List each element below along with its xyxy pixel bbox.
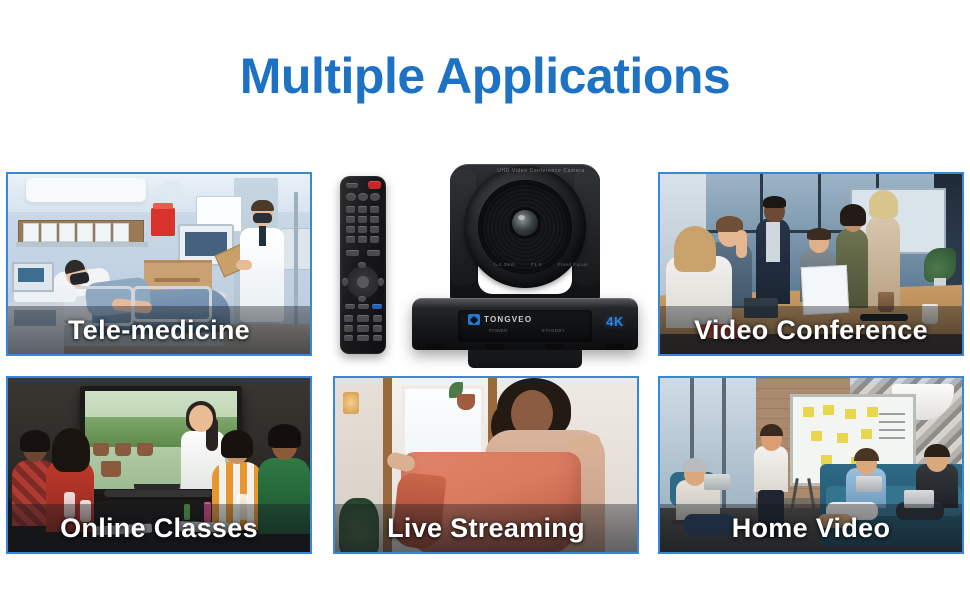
power-indicator-label: POWER xyxy=(489,328,508,333)
application-card-home-video[interactable]: Home Video xyxy=(658,376,964,554)
lens-spec-labels: f=4.3mm F1.8 Fixed Focus xyxy=(486,262,596,267)
tongveo-logo-icon xyxy=(468,314,480,325)
camera-head: UHD Video Conference Camera f=4.3mm F1.8… xyxy=(450,164,600,304)
camera-base: TONGVEO 4K POWER STANDBY xyxy=(412,298,638,350)
marketing-banner: Multiple Applications xyxy=(0,0,970,600)
page-title: Multiple Applications xyxy=(0,46,970,106)
application-card-live-streaming[interactable]: Live Streaming xyxy=(333,376,639,554)
application-card-tele-medicine[interactable]: Tele-medicine xyxy=(6,172,312,356)
indicator-labels: POWER STANDBY xyxy=(472,328,582,333)
camera-aperture xyxy=(512,210,538,236)
card-caption: Online Classes xyxy=(60,513,258,544)
lens-aperture-value: F1.8 xyxy=(531,262,542,267)
card-caption-band: Video Conference xyxy=(660,306,962,354)
application-card-online-classes[interactable]: Online Classes xyxy=(6,376,312,554)
card-caption: Video Conference xyxy=(694,315,928,346)
card-caption-band: Live Streaming xyxy=(335,504,637,552)
card-caption-band: Home Video xyxy=(660,504,962,552)
camera-feet xyxy=(412,343,638,350)
brand-lockup: TONGVEO xyxy=(468,314,532,325)
card-caption-band: Tele-medicine xyxy=(8,306,310,354)
brand-name: TONGVEO xyxy=(484,315,532,324)
standby-indicator-label: STANDBY xyxy=(541,328,565,333)
application-card-video-conference[interactable]: Video Conference xyxy=(658,172,964,356)
ptz-camera: UHD Video Conference Camera f=4.3mm F1.8… xyxy=(412,164,638,356)
resolution-badge: 4K xyxy=(606,314,624,329)
remote-control[interactable] xyxy=(340,176,386,354)
card-caption-band: Online Classes xyxy=(8,504,310,552)
camera-lens-assembly: UHD Video Conference Camera f=4.3mm F1.8… xyxy=(464,166,586,288)
lens-focal-length: f=4.3mm xyxy=(494,262,515,267)
remote-dpad[interactable] xyxy=(347,266,379,298)
card-caption: Home Video xyxy=(732,513,891,544)
lens-focus-type: Fixed Focus xyxy=(558,262,588,267)
product-showcase: UHD Video Conference Camera f=4.3mm F1.8… xyxy=(312,162,658,358)
card-caption: Tele-medicine xyxy=(68,315,250,346)
card-caption: Live Streaming xyxy=(387,513,585,544)
